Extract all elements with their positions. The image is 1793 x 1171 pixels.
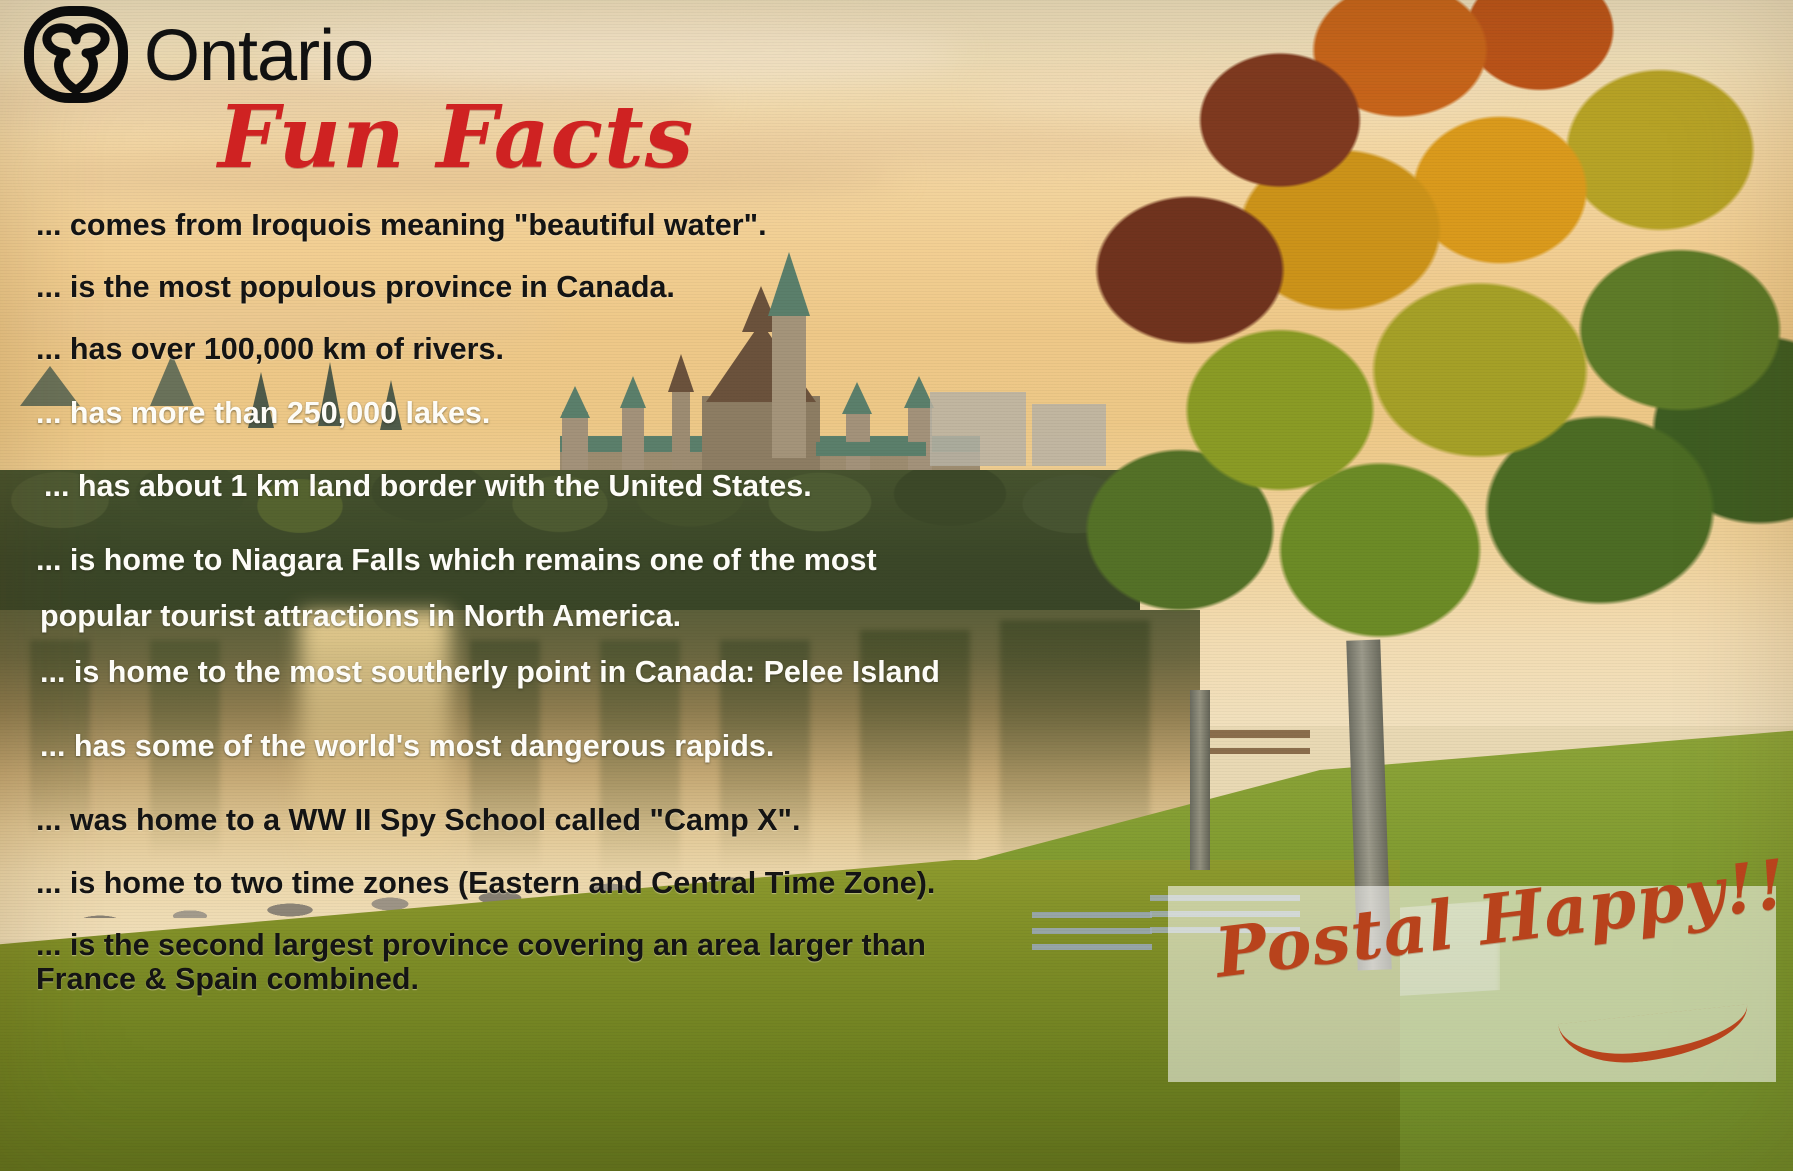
- fact-item: ... is home to the most southerly point …: [40, 655, 1046, 689]
- park-bench-icon: [1032, 900, 1152, 990]
- ontario-trillium-icon: [22, 6, 130, 103]
- page-title: Fun Facts: [218, 97, 760, 179]
- fact-item: ... has some of the world's most dangero…: [40, 729, 1046, 763]
- postcard: Ontario Fun Facts ... comes from Iroquoi…: [0, 0, 1793, 1171]
- fun-facts-list: ... comes from Iroquois meaning "beautif…: [36, 208, 1046, 996]
- autumn-tree-icon: [980, 0, 1793, 770]
- fact-item: ... is home to two time zones (Eastern a…: [36, 866, 1046, 900]
- fact-item: ... comes from Iroquois meaning "beautif…: [36, 208, 1046, 242]
- fact-item: ... is the second largest province cover…: [36, 928, 1046, 962]
- fact-item: France & Spain combined.: [36, 962, 1046, 996]
- fact-item: popular tourist attractions in North Ame…: [40, 599, 1046, 633]
- tree-trunk: [1190, 690, 1210, 870]
- stamp-underline-swoosh: [1558, 1004, 1752, 1070]
- fact-item: ... has more than 250,000 lakes.: [36, 396, 1046, 430]
- fact-item: ... was home to a WW II Spy School calle…: [36, 803, 1046, 837]
- postal-happy-stamp: Postal Happy!!: [1168, 886, 1776, 1082]
- fact-item: ... is home to Niagara Falls which remai…: [36, 543, 1046, 577]
- brand-name: Ontario: [144, 20, 373, 92]
- fact-item: ... is the most populous province in Can…: [36, 270, 1046, 304]
- postcard-header: Ontario Fun Facts: [0, 0, 760, 179]
- picnic-table-icon: [1200, 730, 1310, 770]
- fact-item: ... has about 1 km land border with the …: [44, 469, 1046, 503]
- fact-item: ... has over 100,000 km of rivers.: [36, 332, 1046, 366]
